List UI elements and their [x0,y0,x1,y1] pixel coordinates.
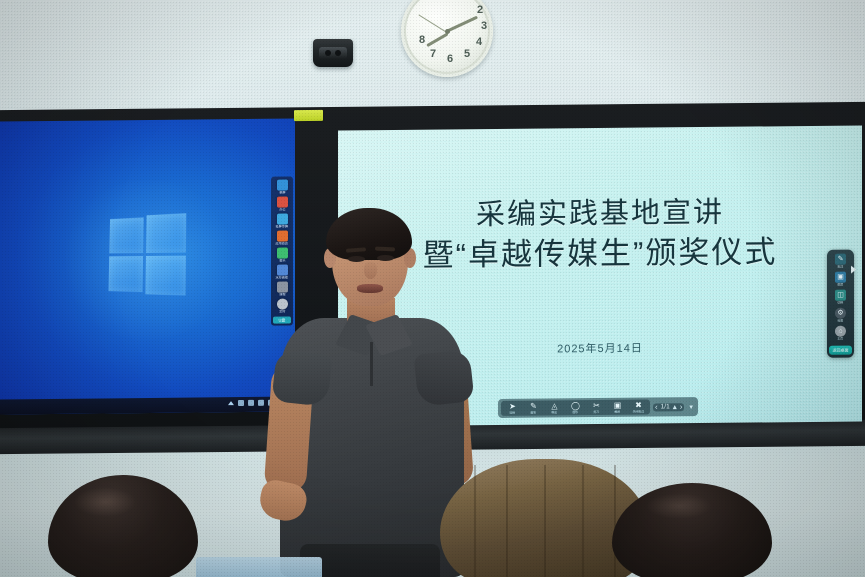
clock-center-pin [445,29,450,34]
prev-page-icon[interactable]: ‹ [655,403,658,411]
windows-taskbar[interactable]: 17:09 [0,396,295,414]
tool-pen[interactable]: ✎ 画笔 [525,402,542,415]
pen-icon: ✎ [835,254,846,265]
floating-side-toolbar[interactable]: ✎ 批注 ▣ 截屏 ◫ 切换 ⚙ 设置 ⌂ 主页 返回桌面 [827,250,854,358]
tool-scissors[interactable]: ✂ 剪刀 [588,401,605,414]
hair-strand [582,465,584,577]
tool-shape-label: 图形 [573,410,579,414]
left-display-windows-desktop[interactable]: 录屏 办公 投屏传屏 应用商店 音乐 水形画板 [0,118,295,414]
tool-select-label: 选择 [510,411,516,415]
windows-logo-pane-1 [109,217,143,253]
dock-item-0[interactable]: 录屏 [272,179,292,194]
collapse-arrow-icon[interactable] [851,266,856,274]
tool-close-label: 关闭批注 [633,410,644,414]
side-tool-label-3: 设置 [838,319,844,323]
hair-strand [506,465,508,577]
clock-number-7: 7 [426,47,440,61]
side-tool-3[interactable]: ⚙ 设置 [828,308,853,323]
presenter-hair [326,208,412,260]
hair-highlight [74,487,136,517]
caret-up-icon[interactable] [228,401,234,405]
side-tool-label-4: 主页 [838,337,844,341]
side-tool-2[interactable]: ◫ 切换 [828,290,853,305]
gear-icon: ⚙ [835,308,846,319]
side-tool-1[interactable]: ▣ 截屏 [828,272,853,287]
ceiling-camera-icon [313,39,353,67]
hair-highlight [646,493,712,519]
windows-logo-icon [108,213,186,294]
clock-number-2: 2 [473,3,487,17]
shape-icon: ◯ [571,401,580,410]
scissors-icon: ✂ [593,401,600,410]
capture-icon: ▣ [614,401,622,410]
home-icon: ⌂ [835,326,846,337]
clock-number-6: 6 [443,52,457,66]
presenter-right-sleeve [413,349,474,407]
side-tool-label-2: 切换 [838,301,844,305]
tool-select[interactable]: ➤ 选择 [504,402,521,415]
tool-eraser-label: 橡皮 [552,411,558,415]
side-tool-label-1: 截屏 [838,283,844,287]
next-page-icon[interactable]: › [680,403,683,411]
pen-icon: ✎ [530,402,537,411]
side-tool-4[interactable]: ⌂ 主页 [828,326,853,341]
dock-label-0: 录屏 [279,191,285,195]
hair-strand [544,465,546,577]
classroom-photo: 2 3 4 5 6 7 8 录屏 [0,0,865,577]
camera-icon [277,180,288,191]
slide-title-line-1: 采编实践基地宣讲 [476,197,724,231]
network-icon[interactable] [238,400,244,406]
tool-shape[interactable]: ◯ 图形 [567,401,584,414]
page-indicator: 1/1 [661,403,670,410]
hair-strand [474,465,476,577]
tool-capture-label: 截屏 [615,410,621,414]
tool-close[interactable]: ✖ 关闭批注 [630,401,647,414]
presenter-mouth [357,284,383,293]
annotation-toolbar[interactable]: ➤ 选择 ✎ 画笔 ◬ 橡皮 ◯ 图形 ✂ 剪刀 [498,397,698,418]
dock-item-1[interactable]: 办公 [272,196,292,211]
camera-sensor-dots [325,50,331,56]
page-navigation[interactable]: ‹ 1/1 ▴ › [653,403,684,411]
tool-eraser[interactable]: ◬ 橡皮 [546,401,563,414]
tool-capture[interactable]: ▣ 截屏 [609,401,626,414]
clock-number-5: 5 [460,47,474,61]
windows-logo-pane-3 [108,256,143,292]
presenter-eye-right [377,255,394,261]
tool-scissors-label: 剪刀 [594,410,600,414]
camera-icon: ▣ [835,272,846,283]
cursor-icon: ➤ [509,402,516,411]
desk-edge [196,557,322,577]
close-icon: ✖ [635,401,642,410]
clock-number-4: 4 [472,35,486,49]
side-tool-label-0: 批注 [838,265,844,269]
annotation-tools-group[interactable]: ➤ 选择 ✎ 画笔 ◬ 橡皮 ◯ 图形 ✂ 剪刀 [501,400,650,416]
eraser-icon: ◬ [551,401,557,410]
tool-pen-label: 画笔 [531,411,537,415]
hair-strand [614,465,616,577]
side-tool-0[interactable]: ✎ 批注 [828,254,853,269]
page-caret-icon[interactable]: ▴ [673,403,677,411]
more-options-icon[interactable]: ▾ [687,403,695,411]
windows-logo-pane-4 [145,256,186,296]
document-icon [277,197,288,208]
camera-lens [319,47,347,59]
dock-label-1: 办公 [279,208,285,212]
asset-tag-sticker [294,110,323,121]
return-to-desktop-button[interactable]: 返回桌面 [829,346,852,355]
presenter-eye-left [348,256,365,262]
window-icon: ◫ [835,290,846,301]
windows-logo-pane-2 [146,213,186,253]
clock-number-3: 3 [477,19,491,33]
presenter-shirt-placket [370,342,373,386]
presenter-nose [364,262,377,279]
